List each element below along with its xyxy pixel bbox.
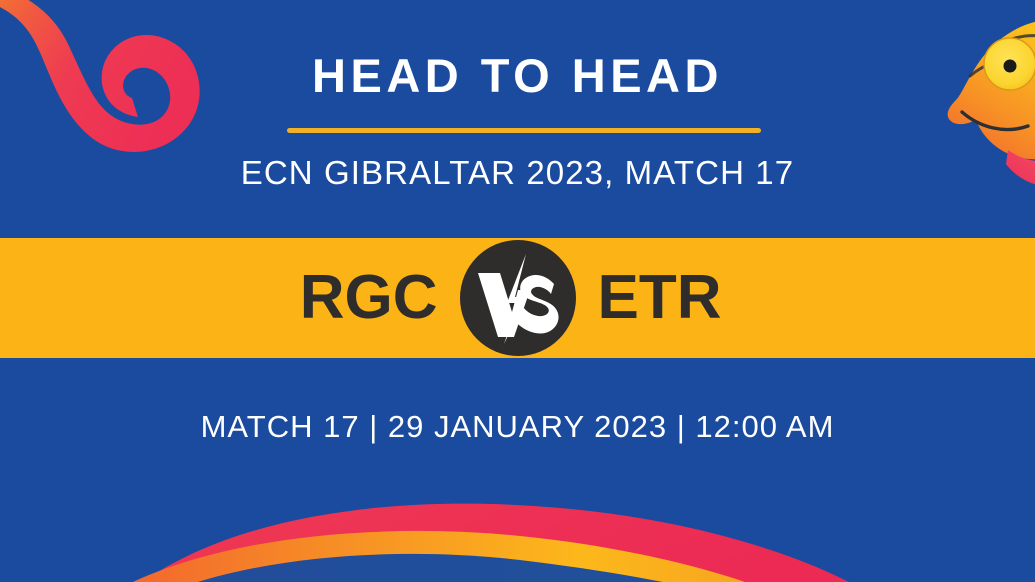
card-header: HEAD TO HEAD ECN GIBRALTAR 2023, MATCH 1… <box>0 0 1035 238</box>
home-team-abbr: RGC <box>223 267 460 329</box>
vs-badge <box>460 240 576 356</box>
tournament-subtitle: ECN GIBRALTAR 2023, MATCH 17 <box>0 152 1035 193</box>
head-to-head-card: HEAD TO HEAD ECN GIBRALTAR 2023, MATCH 1… <box>0 0 1035 582</box>
title-divider <box>287 128 761 133</box>
match-details: MATCH 17 | 29 JANUARY 2023 | 12:00 AM <box>0 408 1035 447</box>
away-team-abbr: ETR <box>576 267 813 329</box>
page-title: HEAD TO HEAD <box>0 52 1035 99</box>
versus-lightning-icon <box>460 240 576 356</box>
matchup-row: RGC ETR <box>0 238 1035 358</box>
